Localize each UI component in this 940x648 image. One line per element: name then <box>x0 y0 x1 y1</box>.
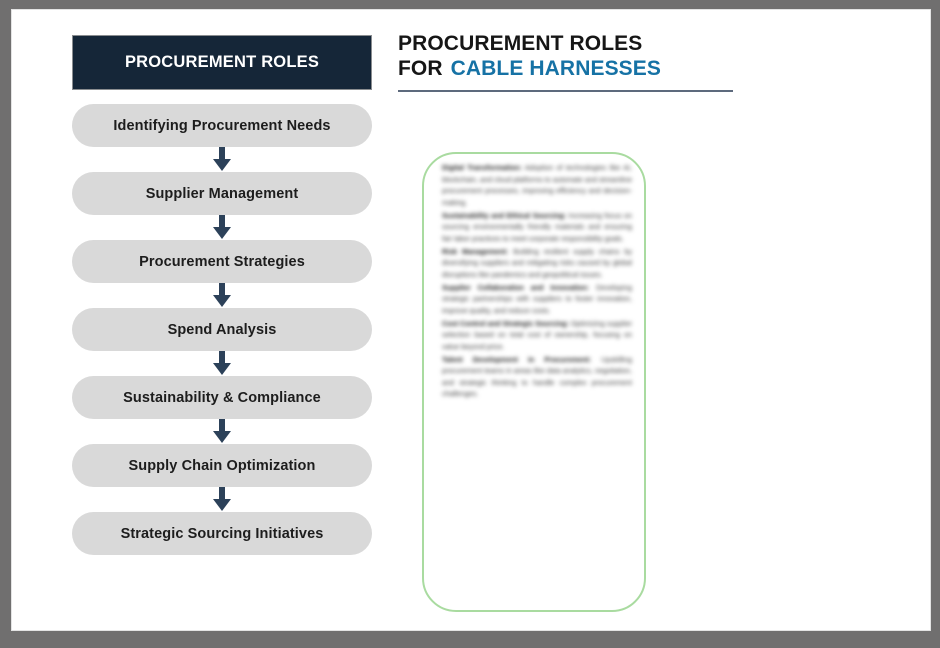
flow-step-label: Sustainability & Compliance <box>123 390 321 406</box>
flow-arrow-4 <box>72 351 372 376</box>
info-item-heading: Digital Transformation: <box>442 163 522 172</box>
info-item: Digital Transformation: Adoption of tech… <box>442 162 632 209</box>
flowchart-header: PROCUREMENT ROLES <box>72 35 372 90</box>
flowchart-header-label: PROCUREMENT ROLES <box>125 53 319 72</box>
flow-step-procurement-strategies[interactable]: Procurement Strategies <box>72 240 372 283</box>
flow-step-spend-analysis[interactable]: Spend Analysis <box>72 308 372 351</box>
flow-step-strategic-sourcing-initiatives[interactable]: Strategic Sourcing Initiatives <box>72 512 372 555</box>
flow-arrow-1 <box>72 147 372 172</box>
flow-step-label: Supplier Management <box>146 186 299 202</box>
flow-arrow-6 <box>72 487 372 512</box>
flow-step-identifying-procurement-needs[interactable]: Identifying Procurement Needs <box>72 104 372 147</box>
flow-step-supplier-management[interactable]: Supplier Management <box>72 172 372 215</box>
page-title-accent: CABLE HARNESSES <box>451 57 661 80</box>
info-item-heading: Risk Management: <box>442 247 508 256</box>
trends-info-card-body: Digital Transformation: Adoption of tech… <box>442 162 632 401</box>
flow-step-label: Procurement Strategies <box>139 254 305 270</box>
info-item: Talent Development in Procurement: Upski… <box>442 354 632 401</box>
procurement-roles-flowchart: PROCUREMENT ROLES Identifying Procuremen… <box>72 35 372 555</box>
flow-arrow-3 <box>72 283 372 308</box>
content-column: PROCUREMENT ROLES FORCABLE HARNESSES <box>398 32 758 92</box>
flow-arrow-5 <box>72 419 372 444</box>
info-item-heading: Sustainability and Ethical Sourcing: <box>442 211 566 220</box>
info-item: Risk Management: Building resilient supp… <box>442 246 632 281</box>
slide-canvas: PROCUREMENT ROLES Identifying Procuremen… <box>12 10 930 630</box>
flow-step-label: Supply Chain Optimization <box>129 458 316 474</box>
info-item-heading: Supplier Collaboration and Innovation: <box>442 283 589 292</box>
info-item-heading: Cost Control and Strategic Sourcing: <box>442 319 569 328</box>
info-item-heading: Talent Development in Procurement: <box>442 355 591 364</box>
page-title: PROCUREMENT ROLES FORCABLE HARNESSES <box>398 32 733 92</box>
info-item: Sustainability and Ethical Sourcing: Inc… <box>442 210 632 245</box>
flow-step-sustainability-and-compliance[interactable]: Sustainability & Compliance <box>72 376 372 419</box>
flow-step-label: Identifying Procurement Needs <box>113 118 330 134</box>
flow-step-label: Spend Analysis <box>168 322 277 338</box>
slide-frame: PROCUREMENT ROLES Identifying Procuremen… <box>0 0 940 648</box>
trends-info-card: Digital Transformation: Adoption of tech… <box>422 152 646 612</box>
info-item: Cost Control and Strategic Sourcing: Opt… <box>442 318 632 353</box>
flow-arrow-2 <box>72 215 372 240</box>
flow-step-label: Strategic Sourcing Initiatives <box>121 526 324 542</box>
info-item: Supplier Collaboration and Innovation: D… <box>442 282 632 317</box>
flow-step-supply-chain-optimization[interactable]: Supply Chain Optimization <box>72 444 372 487</box>
flowchart-steps: Identifying Procurement Needs Supplier M… <box>72 104 372 555</box>
